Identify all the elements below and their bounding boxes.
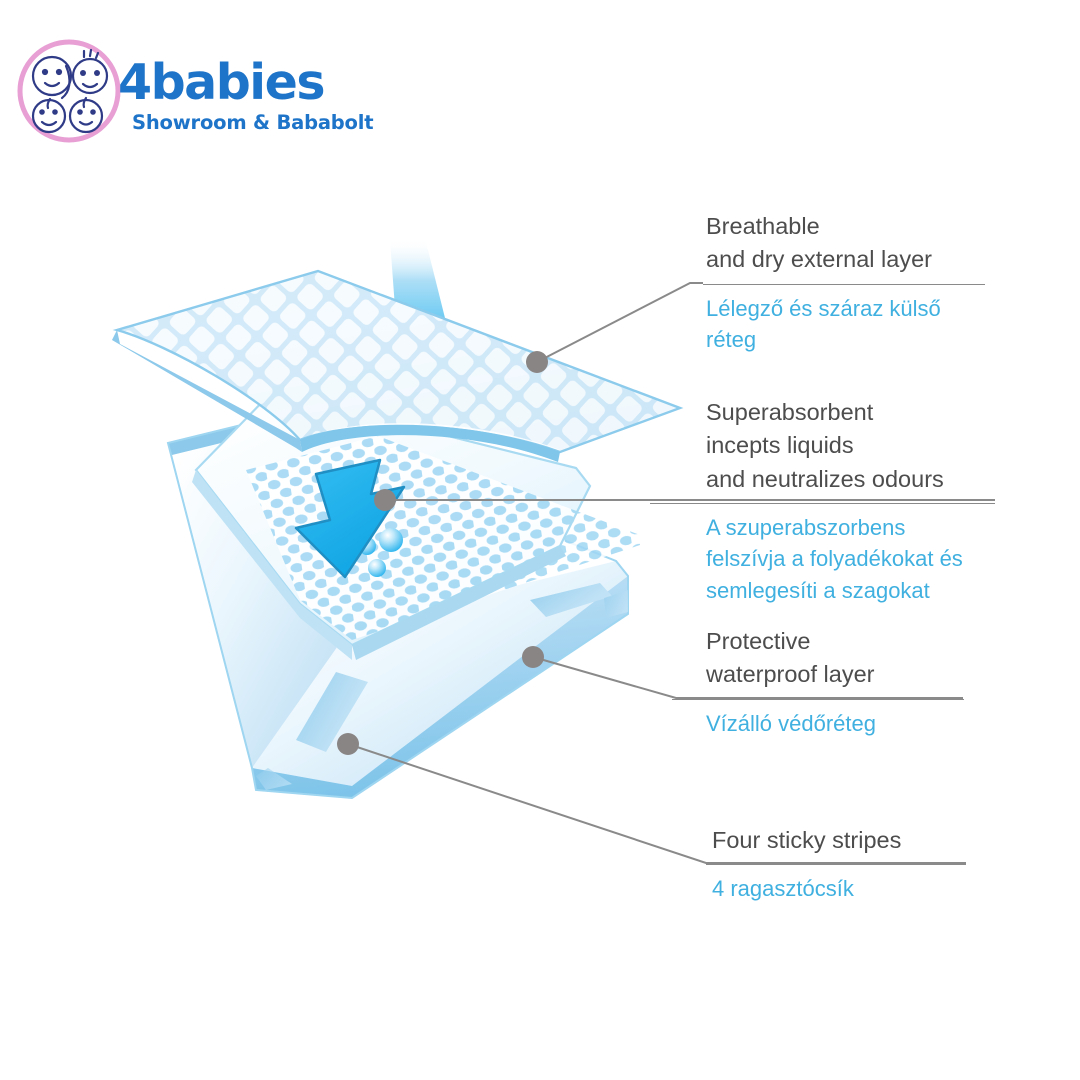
callout-divider bbox=[703, 284, 985, 285]
callout-waterproof: Protective waterproof layer Vízálló védő… bbox=[706, 625, 996, 739]
callout-breathable-hu: Lélegző és száraz külső réteg bbox=[706, 293, 996, 355]
page-canvas: 4babies Showroom & Bababolt Breathable a… bbox=[0, 0, 1080, 1080]
callout-divider bbox=[706, 864, 966, 865]
brand-title: 4babies bbox=[118, 58, 398, 107]
four-baby-faces-circle-icon bbox=[14, 36, 124, 146]
callout-sticky-stripes-en: Four sticky stripes bbox=[712, 824, 1002, 857]
callout-dot-superabsorbent bbox=[374, 489, 396, 511]
brand-logo[interactable]: 4babies Showroom & Bababolt bbox=[14, 36, 394, 156]
callout-waterproof-hu: Vízálló védőréteg bbox=[706, 708, 996, 739]
callout-superabsorbent: Superabsorbent incepts liquids and neutr… bbox=[706, 396, 1006, 606]
callout-sticky-stripes-hu: 4 ragasztócsík bbox=[712, 873, 1002, 904]
callout-superabsorbent-en: Superabsorbent incepts liquids and neutr… bbox=[706, 396, 1006, 496]
callout-dot-waterproof bbox=[522, 646, 544, 668]
brand-subtitle: Showroom & Bababolt bbox=[132, 113, 398, 133]
brand-wordmark: 4babies Showroom & Bababolt bbox=[118, 58, 398, 133]
callout-dot-sticky-stripes bbox=[337, 733, 359, 755]
callout-superabsorbent-hu: A szuperabszorbens felszívja a folyadéko… bbox=[706, 512, 1006, 606]
callout-waterproof-en: Protective waterproof layer bbox=[706, 625, 996, 692]
callout-divider bbox=[672, 699, 964, 700]
callout-sticky-stripes: Four sticky stripes 4 ragasztócsík bbox=[712, 824, 1002, 905]
callout-breathable: Breathable and dry external layer Lélegz… bbox=[706, 210, 996, 355]
liquid-droplet bbox=[379, 528, 403, 552]
callout-dot-breathable bbox=[526, 351, 548, 373]
liquid-droplet bbox=[368, 559, 386, 577]
leader-line-breathable bbox=[537, 283, 703, 362]
callout-divider bbox=[650, 503, 995, 504]
callout-breathable-en: Breathable and dry external layer bbox=[706, 210, 996, 277]
